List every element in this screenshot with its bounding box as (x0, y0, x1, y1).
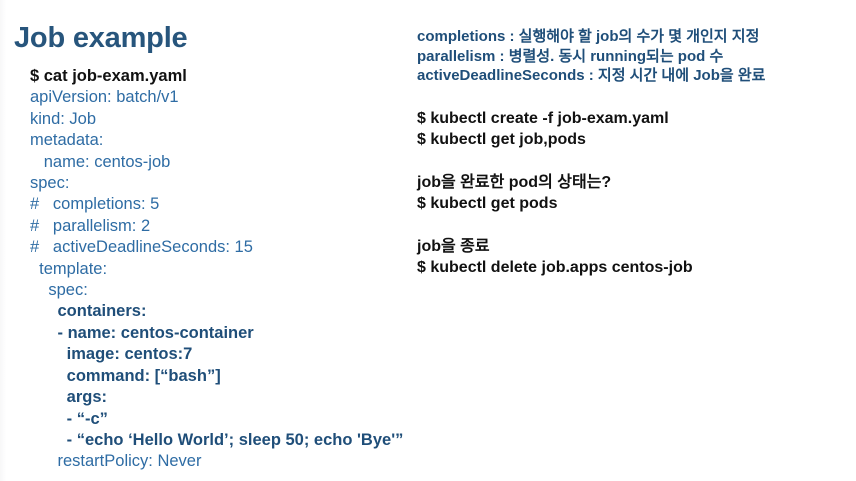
spacer (417, 151, 856, 172)
command-group-heading: job을 완료한 pod의 상태는? (417, 172, 856, 194)
shell-command: $ kubectl delete job.apps centos-job (417, 257, 856, 279)
shell-command: $ kubectl get pods (417, 193, 856, 215)
yaml-line: # parallelism: 2 (30, 216, 430, 237)
parameter-description: completions : 실행해야 할 job의 수가 몇 개인지 지정 (417, 27, 856, 47)
yaml-line: name: centos-job (30, 152, 430, 173)
yaml-line: apiVersion: batch/v1 (30, 87, 430, 108)
yaml-line: - name: centos-container (30, 323, 430, 344)
spacer (417, 86, 856, 108)
yaml-line: # completions: 5 (30, 194, 430, 215)
slide-left-edge (0, 0, 6, 481)
yaml-line: kind: Job (30, 109, 430, 130)
command-group-heading: job을 종료 (417, 236, 856, 258)
yaml-line: spec: (30, 280, 430, 301)
page-title: Job example (14, 22, 188, 55)
yaml-line: restartPolicy: Never (30, 451, 430, 472)
yaml-lines-container: apiVersion: batch/v1kind: Jobmetadata: n… (30, 87, 430, 472)
yaml-line: command: [“bash”] (30, 366, 430, 387)
yaml-line: metadata: (30, 130, 430, 151)
shell-command: $ kubectl get job,pods (417, 129, 856, 151)
yaml-line: containers: (30, 301, 430, 322)
yaml-listing: $ cat job-exam.yaml apiVersion: batch/v1… (30, 66, 430, 473)
parameter-descriptions: completions : 실행해야 할 job의 수가 몇 개인지 지정par… (417, 27, 856, 86)
shell-command-cat: $ cat job-exam.yaml (30, 66, 430, 87)
parameter-description: activeDeadlineSeconds : 지정 시간 내에 Job을 완료 (417, 66, 856, 86)
command-groups: $ kubectl create -f job-exam.yaml$ kubec… (417, 86, 856, 279)
yaml-line: args: (30, 387, 430, 408)
yaml-line: image: centos:7 (30, 344, 430, 365)
shell-command: $ kubectl create -f job-exam.yaml (417, 108, 856, 130)
parameter-description: parallelism : 병렬성. 동시 running되는 pod 수 (417, 47, 856, 67)
notes-column: completions : 실행해야 할 job의 수가 몇 개인지 지정par… (417, 27, 856, 279)
yaml-line: # activeDeadlineSeconds: 15 (30, 237, 430, 258)
yaml-line: - “-c” (30, 409, 430, 430)
yaml-line: - “echo ‘Hello World’; sleep 50; echo 'B… (30, 430, 430, 451)
yaml-line: spec: (30, 173, 430, 194)
spacer (417, 215, 856, 236)
yaml-line: template: (30, 259, 430, 280)
